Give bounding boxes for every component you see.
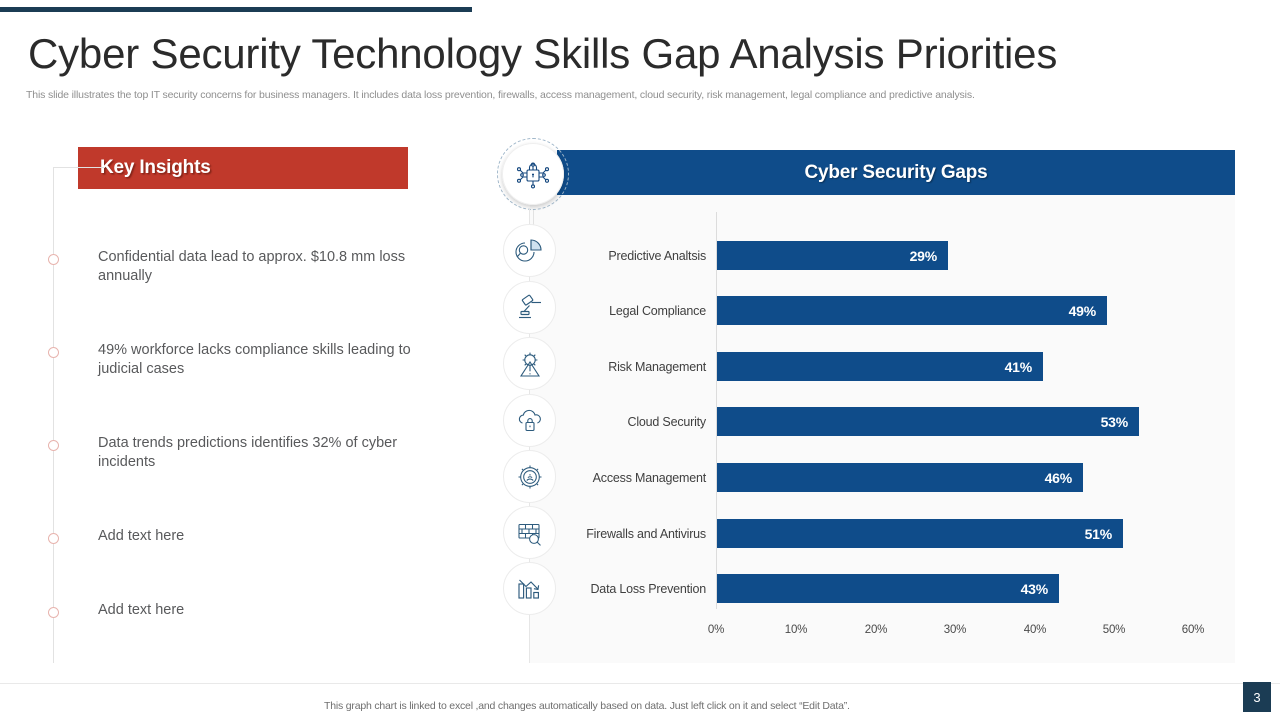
- axis-tick-6: 60%: [1182, 624, 1204, 636]
- axis-tick-3: 30%: [944, 624, 966, 636]
- list-item-label: Confidential data lead to approx. $10.8 …: [98, 248, 418, 286]
- bar-legal-compliance[interactable]: 49%: [717, 296, 1107, 325]
- bar-predictive-analysis[interactable]: 29%: [717, 241, 948, 270]
- bar-category-label: Data Loss Prevention: [536, 582, 706, 596]
- bar-value-label: 29%: [910, 248, 937, 264]
- timeline-connector: [53, 167, 105, 168]
- bar-category-label: Access Management: [546, 471, 706, 485]
- icon-predictive-analysis[interactable]: [503, 224, 556, 277]
- bar-value-label: 43%: [1021, 581, 1048, 597]
- bar-category-label: Cloud Security: [556, 415, 706, 429]
- list-item-label: 49% workforce lacks compliance skills le…: [98, 341, 418, 379]
- bar-cloud-security[interactable]: 53%: [717, 407, 1139, 436]
- bar-value-label: 51%: [1085, 526, 1112, 542]
- bar-risk-management[interactable]: 41%: [717, 352, 1043, 381]
- bar-category-label: Risk Management: [556, 360, 706, 374]
- page-subtitle: This slide illustrates the top IT securi…: [26, 88, 1186, 102]
- access-gear-fingerprint-icon: [515, 462, 545, 492]
- chart-title-bar: Cyber Security Gaps: [557, 150, 1235, 195]
- top-accent-rule: [0, 7, 472, 12]
- bar-category-label: Predictive Analtsis: [556, 249, 706, 263]
- chart-title: Cyber Security Gaps: [804, 162, 987, 184]
- list-item-label: Add text here: [98, 601, 418, 620]
- icon-cloud-security[interactable]: [503, 394, 556, 447]
- list-item-label: Data trends predictions identifies 32% o…: [98, 434, 418, 472]
- page-number-badge: 3: [1243, 682, 1271, 712]
- bullet-circle-icon: [48, 607, 59, 618]
- footer-divider: [0, 683, 1280, 684]
- bar-category-label: Legal Compliance: [556, 304, 706, 318]
- axis-tick-0: 0%: [708, 624, 724, 636]
- footer-note: This graph chart is linked to excel ,and…: [324, 700, 850, 712]
- bar-data-loss-prevention[interactable]: 43%: [717, 574, 1059, 603]
- key-insights-title: Key Insights: [100, 157, 211, 179]
- key-insights-header: Key Insights: [78, 147, 408, 189]
- axis-tick-4: 40%: [1024, 624, 1046, 636]
- axis-tick-1: 10%: [785, 624, 807, 636]
- bullet-circle-icon: [48, 254, 59, 265]
- page-title: Cyber Security Technology Skills Gap Ana…: [28, 28, 1228, 80]
- cyber-lock-icon: [513, 154, 553, 194]
- gavel-icon: [515, 293, 545, 323]
- bar-value-label: 53%: [1101, 414, 1128, 430]
- axis-tick-2: 20%: [865, 624, 887, 636]
- risk-warning-gear-icon: [515, 349, 545, 379]
- bar-value-label: 41%: [1005, 359, 1032, 375]
- badge-inner-circle: [502, 143, 564, 205]
- bullet-circle-icon: [48, 533, 59, 544]
- bullet-circle-icon: [48, 347, 59, 358]
- slide-canvas: Cyber Security Technology Skills Gap Ana…: [0, 0, 1280, 720]
- icon-risk-management[interactable]: [503, 337, 556, 390]
- list-item-label: Add text here: [98, 527, 418, 546]
- bar-category-label: Firewalls and Antivirus: [536, 527, 706, 541]
- timeline-spine: [53, 167, 54, 663]
- cloud-lock-icon: [515, 406, 545, 436]
- icon-legal-compliance[interactable]: [503, 281, 556, 334]
- bar-value-label: 49%: [1069, 303, 1096, 319]
- bullet-circle-icon: [48, 440, 59, 451]
- cyber-lock-badge: [497, 138, 569, 210]
- bar-value-label: 46%: [1045, 470, 1072, 486]
- bar-access-management[interactable]: 46%: [717, 463, 1083, 492]
- bar-firewalls-antivirus[interactable]: 51%: [717, 519, 1123, 548]
- pie-chart-search-icon: [515, 236, 545, 266]
- axis-tick-5: 50%: [1103, 624, 1125, 636]
